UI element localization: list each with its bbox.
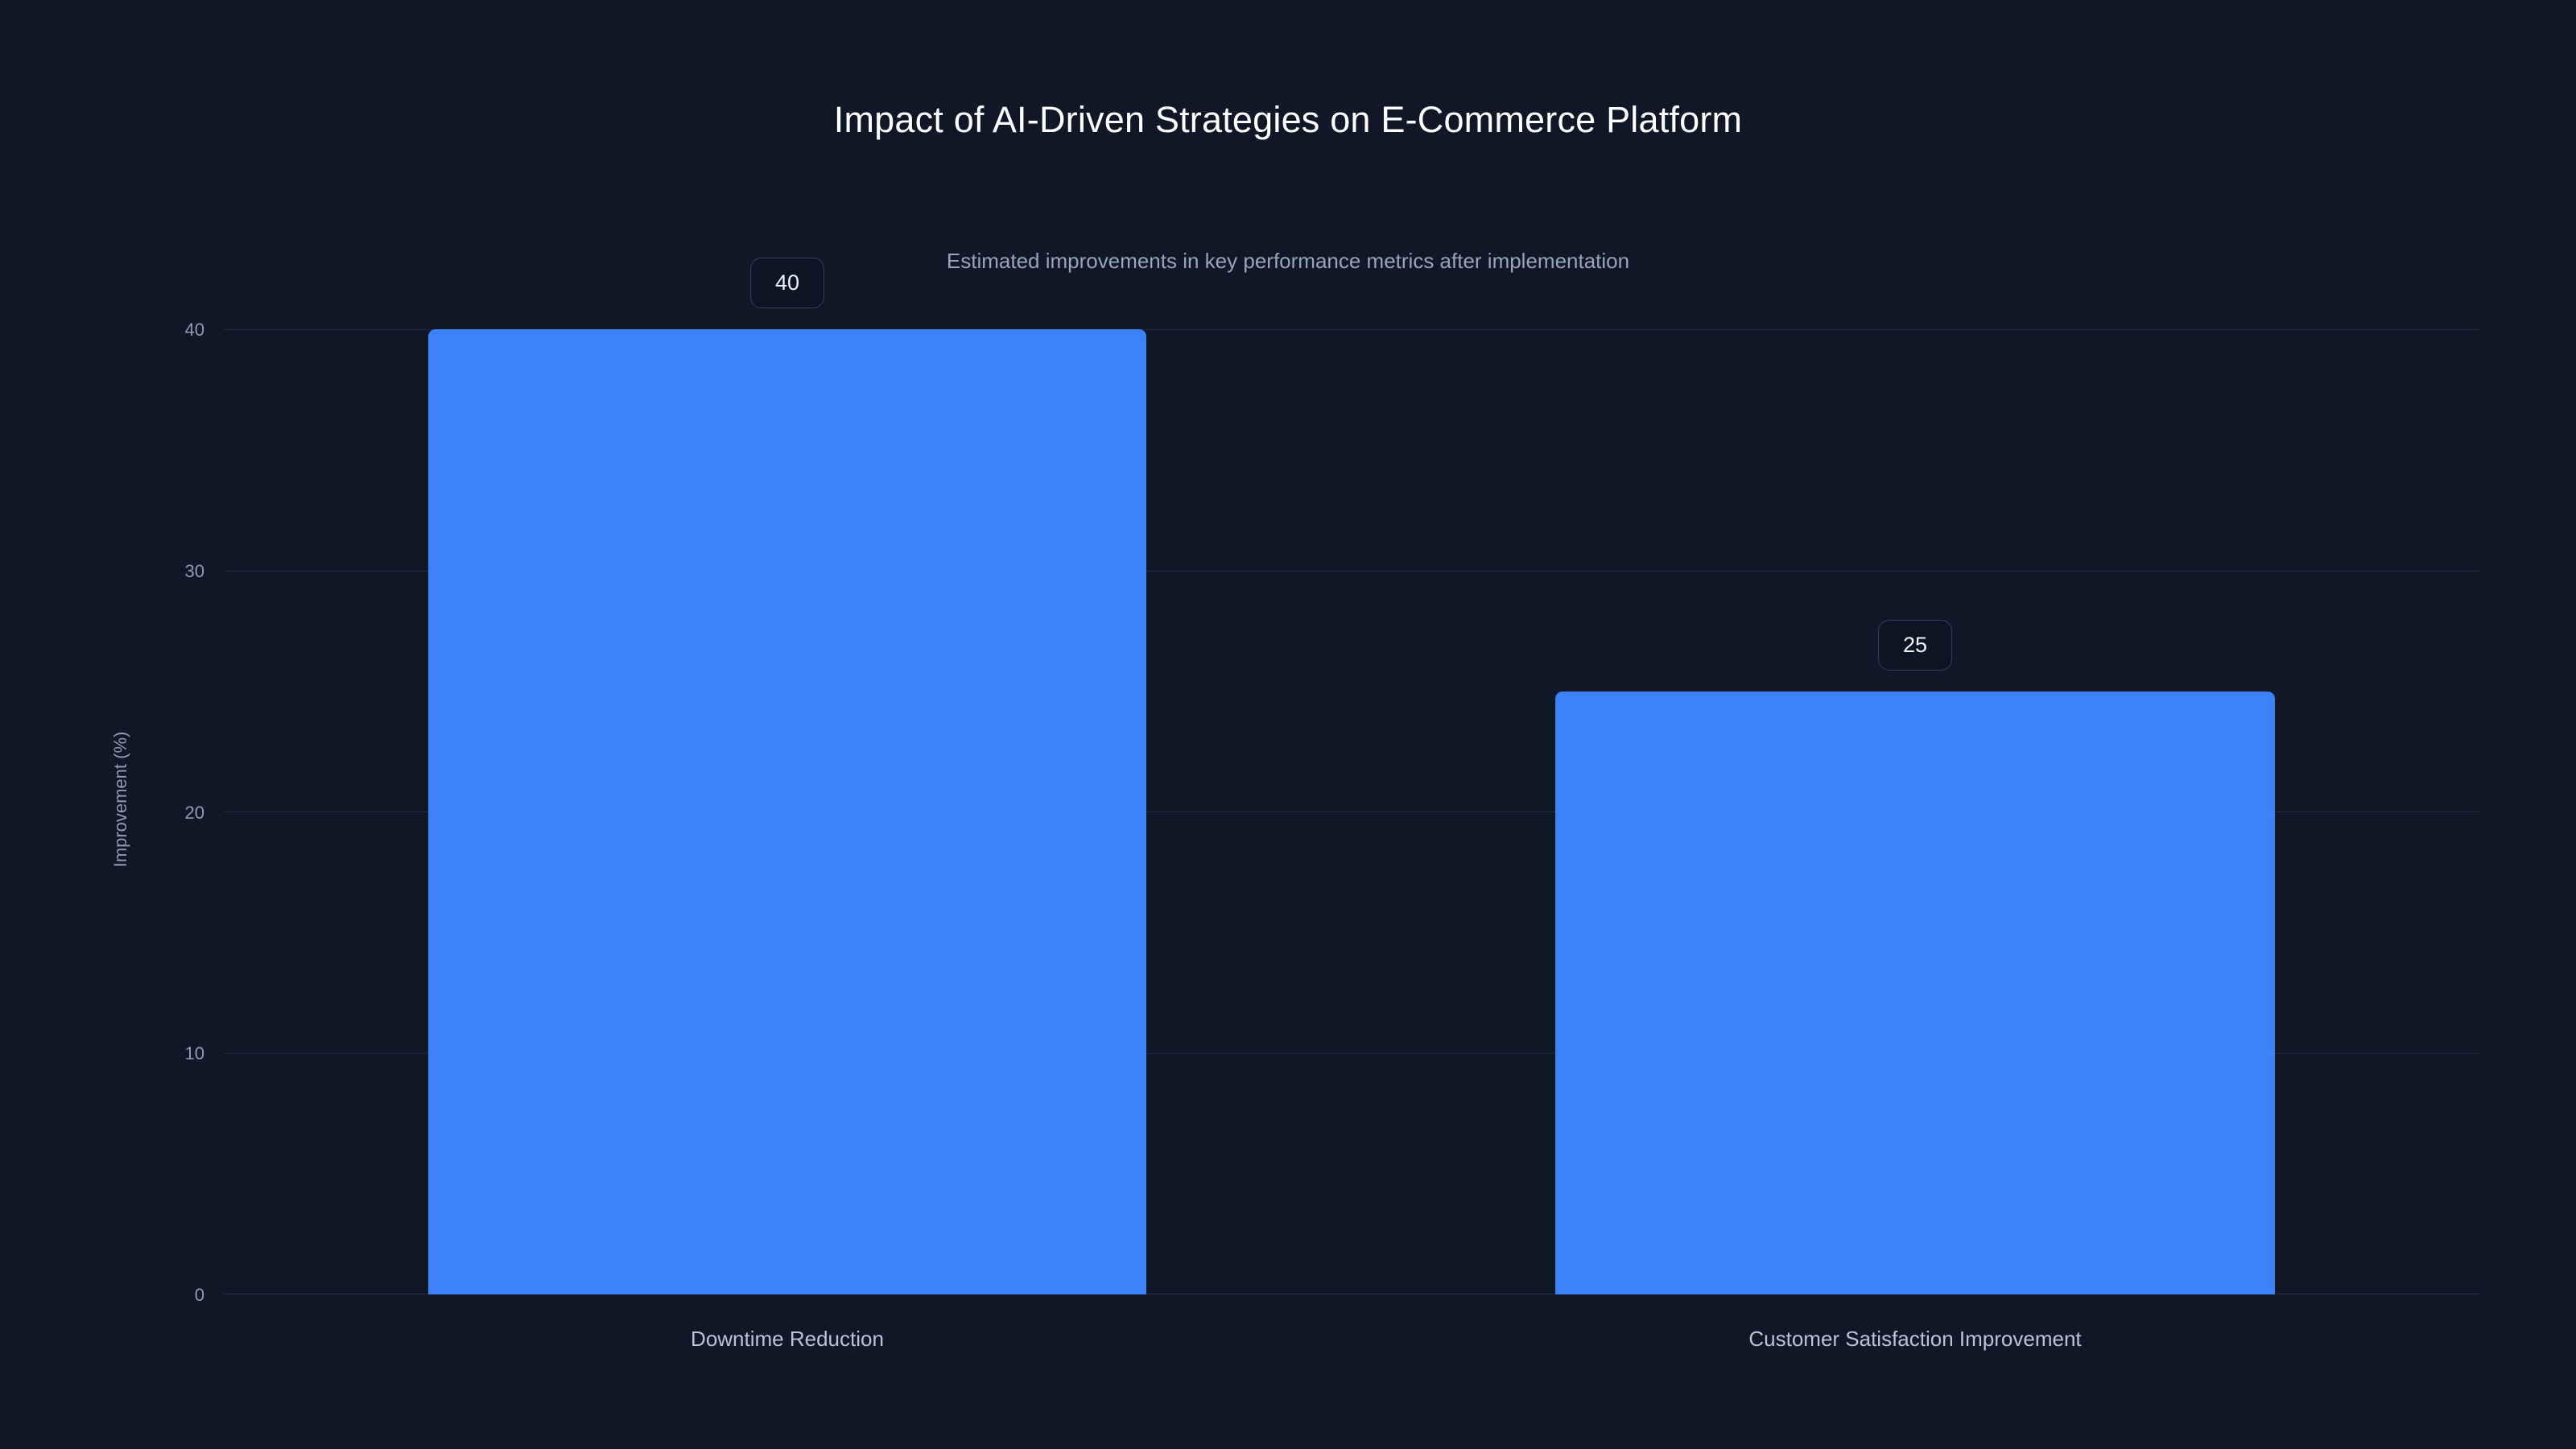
x-tick-label-customer-satisfaction-improvement: Customer Satisfaction Improvement [1674,1328,2157,1349]
bar-downtime-reduction[interactable] [428,329,1146,1294]
chart-title: Impact of AI-Driven Strategies on E-Comm… [0,101,2576,138]
y-axis-title: Improvement (%) [112,732,130,868]
y-tick-label-20: 20 [137,804,204,822]
value-badge-downtime-reduction: 40 [750,258,824,308]
x-tick-label-downtime-reduction: Downtime Reduction [546,1328,1029,1349]
bar-chart: Impact of AI-Driven Strategies on E-Comm… [0,0,2576,1449]
y-tick-label-0: 0 [137,1286,204,1304]
y-tick-label-10: 10 [137,1045,204,1063]
y-tick-label-40: 40 [137,321,204,339]
value-badge-customer-satisfaction-improvement: 25 [1878,620,1952,671]
y-tick-label-30: 30 [137,563,204,580]
chart-subtitle: Estimated improvements in key performanc… [0,250,2576,271]
bar-customer-satisfaction-improvement[interactable] [1555,691,2275,1294]
